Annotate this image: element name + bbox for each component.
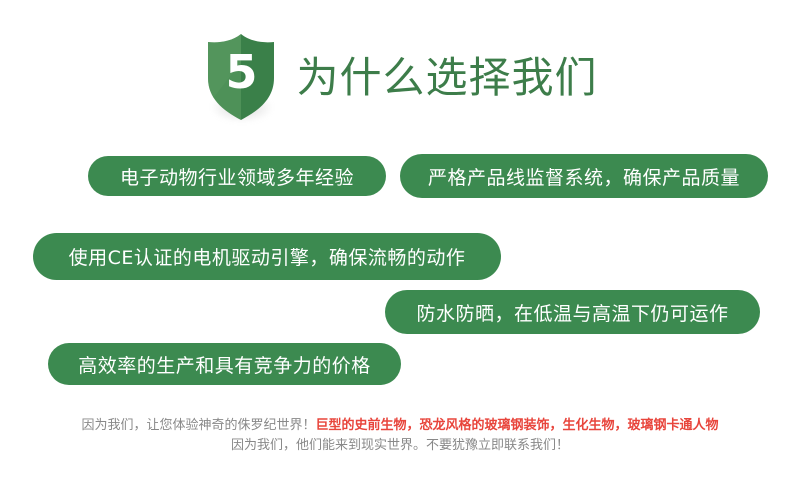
feature-pill-2-label: 严格产品线监督系统，确保产品质量 bbox=[428, 163, 740, 190]
feature-pill-4-label: 防水防晒，在低温与高温下仍可运作 bbox=[416, 299, 728, 326]
footer-line-1: 因为我们，让您体验神奇的侏罗纪世界！巨型的史前生物，恐龙风格的玻璃钢装饰，生化生… bbox=[0, 416, 800, 436]
footer-text: 因为我们，让您体验神奇的侏罗纪世界！巨型的史前生物，恐龙风格的玻璃钢装饰，生化生… bbox=[0, 416, 800, 456]
footer-line-2: 因为我们，他们能来到现实世界。不要犹豫立即联系我们！ bbox=[0, 436, 800, 456]
shield-badge-number: 5 bbox=[202, 32, 280, 116]
feature-pill-1-label: 电子动物行业领域多年经验 bbox=[120, 163, 354, 190]
feature-pill-2: 严格产品线监督系统，确保产品质量 bbox=[400, 154, 768, 198]
feature-pill-1: 电子动物行业领域多年经验 bbox=[88, 156, 386, 196]
shield-badge: 5 bbox=[202, 32, 280, 124]
section-header: 5 为什么选择我们 bbox=[0, 28, 800, 128]
feature-pill-3-label: 使用CE认证的电机驱动引擎，确保流畅的动作 bbox=[69, 243, 466, 270]
feature-pill-5-label: 高效率的生产和具有竞争力的价格 bbox=[78, 351, 371, 378]
page-title: 为什么选择我们 bbox=[296, 57, 597, 99]
feature-pill-5: 高效率的生产和具有竞争力的价格 bbox=[48, 343, 401, 385]
feature-pill-3: 使用CE认证的电机驱动引擎，确保流畅的动作 bbox=[33, 233, 501, 280]
footer-line-1-prefix: 因为我们，让您体验神奇的侏罗纪世界！ bbox=[81, 418, 315, 433]
feature-pill-4: 防水防晒，在低温与高温下仍可运作 bbox=[385, 290, 760, 334]
footer-line-1-highlight: 巨型的史前生物，恐龙风格的玻璃钢装饰，生化生物，玻璃钢卡通人物 bbox=[316, 418, 719, 433]
